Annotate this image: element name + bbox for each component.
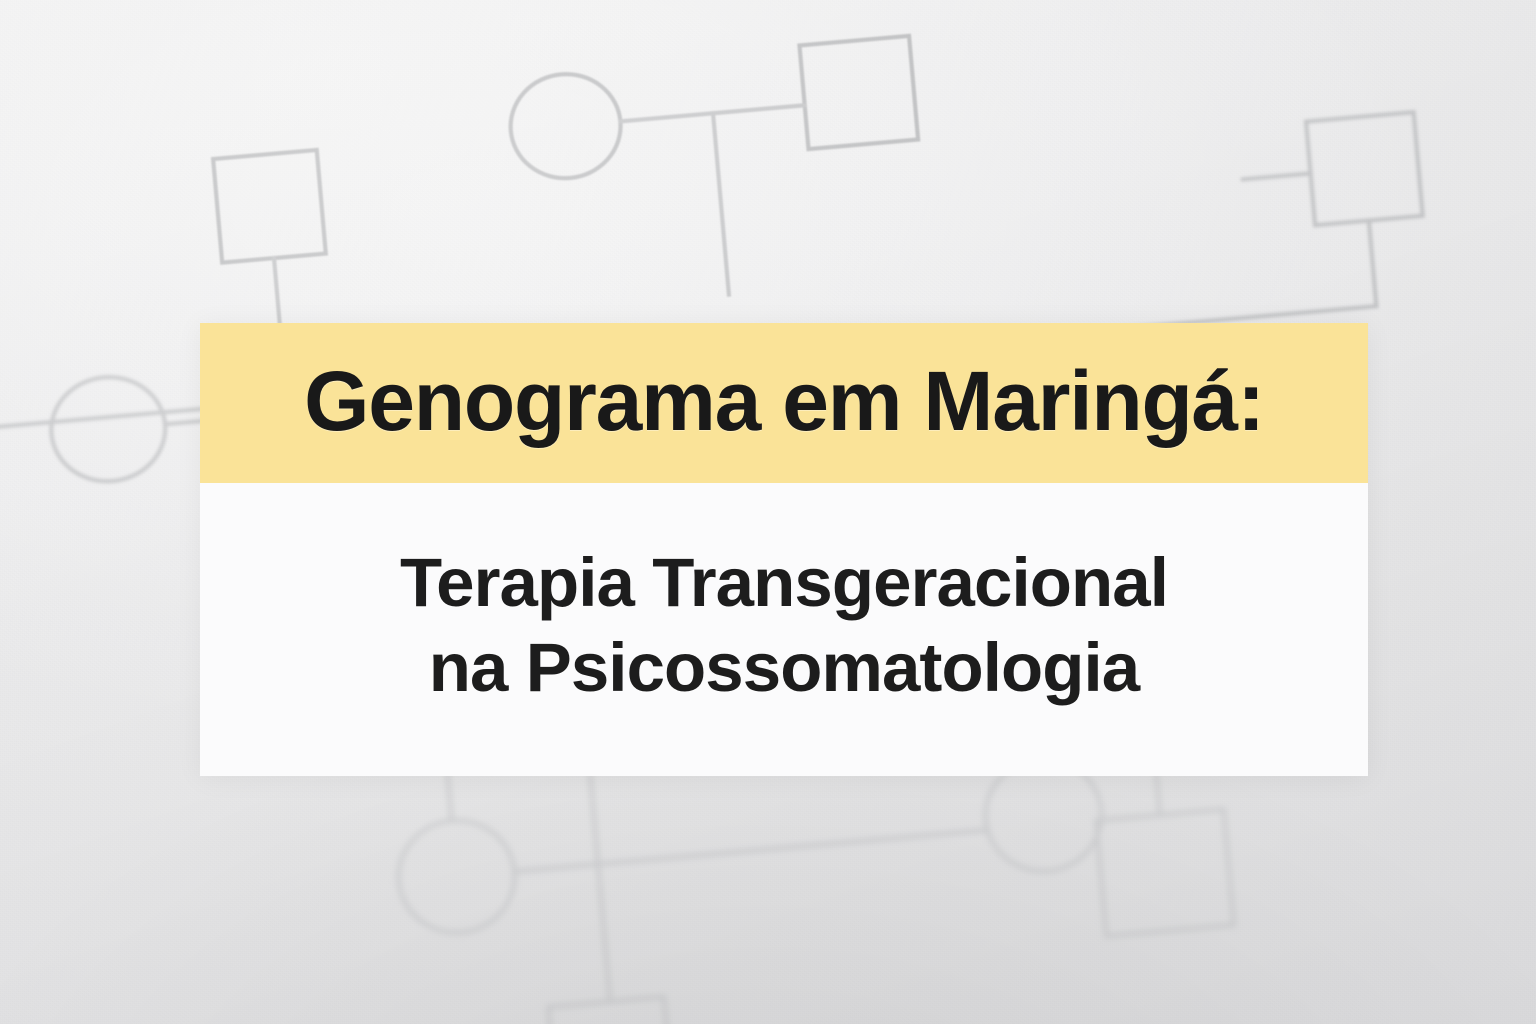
genogram-descent-line (1369, 221, 1376, 307)
genogram-node-square (799, 36, 918, 149)
title-card-graphic: Genograma em Maringá: Terapia Transgerac… (0, 0, 1536, 1024)
genogram-union-line (514, 830, 986, 871)
page-title: Genograma em Maringá: (294, 359, 1274, 443)
subtitle-panel: Terapia Transgeracional na Psicossomatol… (200, 483, 1368, 776)
subtitle-line-2: na Psicossomatologia (400, 626, 1168, 710)
genogram-node-circle (506, 70, 625, 183)
page-subtitle: Terapia Transgeracional na Psicossomatol… (360, 541, 1208, 709)
title-banner: Genograma em Maringá: (200, 323, 1368, 483)
genogram-node-square (548, 997, 674, 1024)
title-card: Genograma em Maringá: Terapia Transgerac… (200, 323, 1368, 776)
genogram-node-square (1306, 112, 1423, 225)
genogram-descent-line (588, 755, 610, 1002)
genogram-descent-line (713, 113, 729, 294)
genogram-node-square (213, 150, 326, 263)
genogram-node-circle (47, 372, 170, 486)
genogram-node-square (1096, 809, 1234, 936)
genogram-node-circle (394, 816, 519, 938)
genogram-union-line (1243, 173, 1311, 179)
subtitle-line-1: Terapia Transgeracional (400, 541, 1168, 625)
genogram-union-line (620, 105, 804, 121)
